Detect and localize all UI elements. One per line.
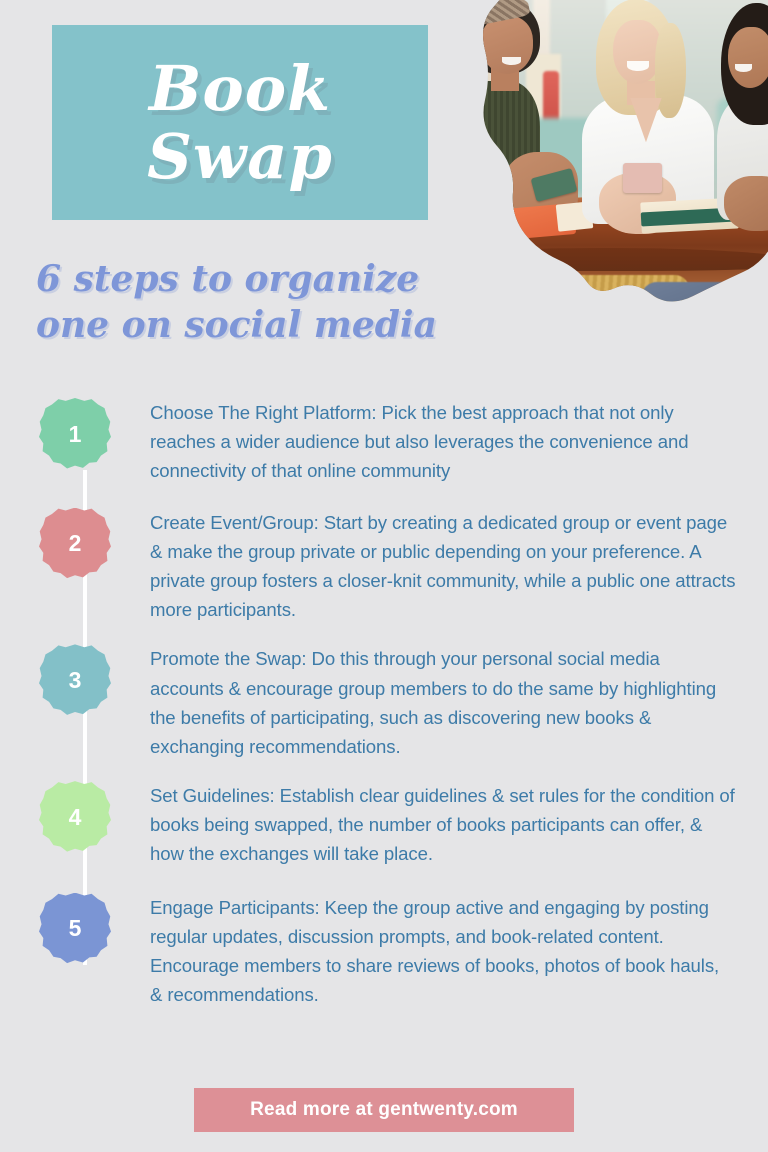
photo-woman2-phone — [623, 163, 661, 194]
step-text-1: Choose The Right Platform: Pick the best… — [150, 398, 768, 486]
photo-woman1-smile — [502, 57, 521, 64]
subtitle: 6 steps to organize one on social media — [36, 256, 556, 348]
step-badge-column: 2 — [0, 508, 150, 580]
step-badge-column: 3 — [0, 644, 150, 716]
step-badge-4: 4 — [39, 781, 111, 853]
step-number: 2 — [69, 530, 82, 557]
photo-woman3-arm — [724, 176, 768, 230]
title-line-2: Swap — [147, 125, 333, 188]
infographic-page: Book Swap 6 steps to organize one on soc… — [0, 0, 768, 1152]
step-text-4: Set Guidelines: Establish clear guidelin… — [150, 781, 768, 869]
step-item: 5 Engage Participants: Keep the group ac… — [0, 893, 768, 1010]
step-number: 3 — [69, 667, 82, 694]
step-badge-3: 3 — [39, 644, 111, 716]
subtitle-line-2: one on social media — [36, 302, 556, 348]
step-item: 2 Create Event/Group: Start by creating … — [0, 508, 768, 625]
read-more-button[interactable]: Read more at gentwenty.com — [194, 1088, 574, 1132]
step-badge-column: 5 — [0, 893, 150, 965]
photo-woman3-face — [728, 27, 768, 88]
step-item: 4 Set Guidelines: Establish clear guidel… — [0, 781, 768, 869]
step-number: 4 — [69, 804, 82, 831]
title-line-1: Book — [149, 57, 331, 120]
step-number: 1 — [69, 421, 82, 448]
photo-jeans — [641, 282, 745, 336]
title-banner: Book Swap — [52, 25, 428, 220]
step-item: 1 Choose The Right Platform: Pick the be… — [0, 398, 768, 486]
step-badge-1: 1 — [39, 398, 111, 470]
step-badge-2: 2 — [39, 508, 111, 580]
subtitle-line-1: 6 steps to organize — [36, 256, 556, 302]
step-number: 5 — [69, 915, 82, 942]
step-badge-column: 4 — [0, 781, 150, 853]
steps-list: 1 Choose The Right Platform: Pick the be… — [0, 398, 768, 1009]
step-badge-column: 1 — [0, 398, 150, 470]
photo-woman1-face — [481, 16, 533, 74]
photo-woman2-smile — [627, 61, 650, 71]
step-text-3: Promote the Swap: Do this through your p… — [150, 644, 768, 761]
step-item: 3 Promote the Swap: Do this through your… — [0, 644, 768, 761]
step-text-5: Engage Participants: Keep the group acti… — [150, 893, 768, 1010]
step-badge-5: 5 — [39, 893, 111, 965]
step-text-2: Create Event/Group: Start by creating a … — [150, 508, 768, 625]
